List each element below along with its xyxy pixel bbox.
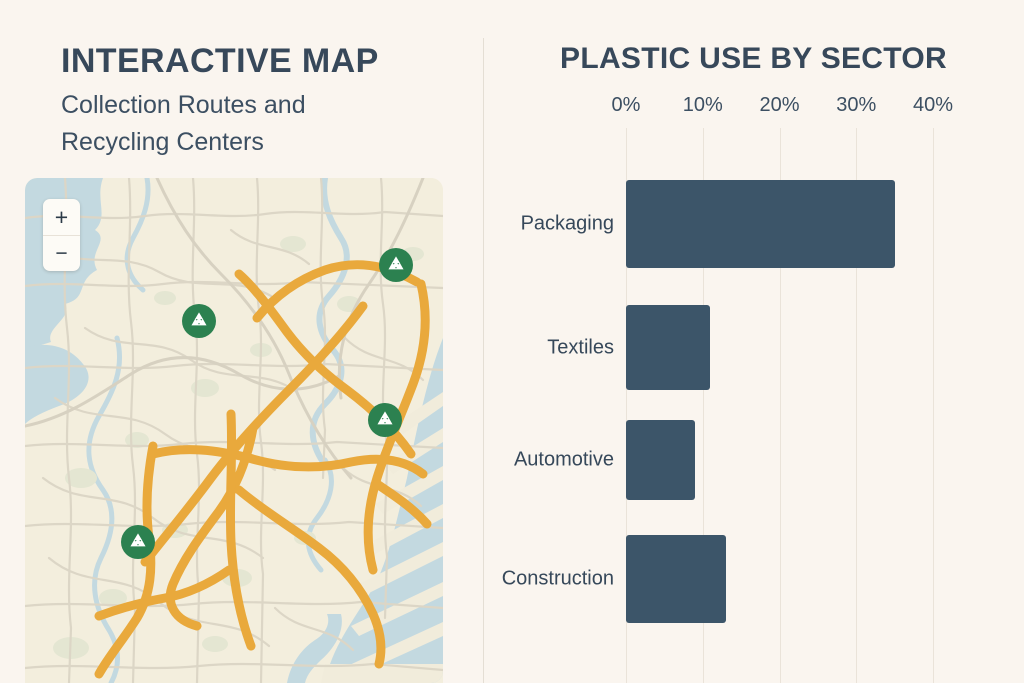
map-zoom-control[interactable]: + − [43, 199, 80, 271]
bar-textiles[interactable] [626, 305, 710, 390]
bar-automotive[interactable] [626, 420, 695, 500]
bar-category-label: Packaging [521, 213, 614, 236]
marker-recycling-center-east [368, 403, 402, 437]
gridline-40% [933, 128, 934, 683]
x-axis-tick-label: 10% [683, 94, 723, 117]
bar-category-label: Construction [502, 568, 614, 591]
marker-recycling-center-north [379, 248, 413, 282]
zoom-in-button[interactable]: + [43, 199, 80, 235]
interactive-map[interactable] [25, 178, 443, 683]
x-axis-tick-label: 20% [759, 94, 799, 117]
page-root: INTERACTIVE MAP Collection Routes and Re… [0, 0, 1024, 683]
x-axis-tick-label: 40% [913, 94, 953, 117]
chart-panel-section: PLASTIC USE BY SECTOR 0%10%20%30%40%Pack… [483, 0, 1024, 683]
map-canvas[interactable] [25, 178, 443, 683]
page-title: INTERACTIVE MAP [61, 40, 379, 82]
bar-packaging[interactable] [626, 180, 895, 268]
x-axis-tick-label: 0% [612, 94, 641, 117]
marker-recycling-center-west [182, 304, 216, 338]
x-axis-tick-label: 30% [836, 94, 876, 117]
bar-category-label: Textiles [547, 336, 614, 359]
zoom-out-button[interactable]: − [43, 235, 80, 271]
bar-construction[interactable] [626, 535, 726, 623]
page-subtitle: Collection Routes and Recycling Centers [61, 87, 401, 161]
map-panel-section: INTERACTIVE MAP Collection Routes and Re… [0, 0, 483, 683]
bar-chart: 0%10%20%30%40%PackagingTextilesAutomotiv… [483, 0, 1024, 683]
bar-category-label: Automotive [514, 449, 614, 472]
marker-recycling-center-south [121, 525, 155, 559]
